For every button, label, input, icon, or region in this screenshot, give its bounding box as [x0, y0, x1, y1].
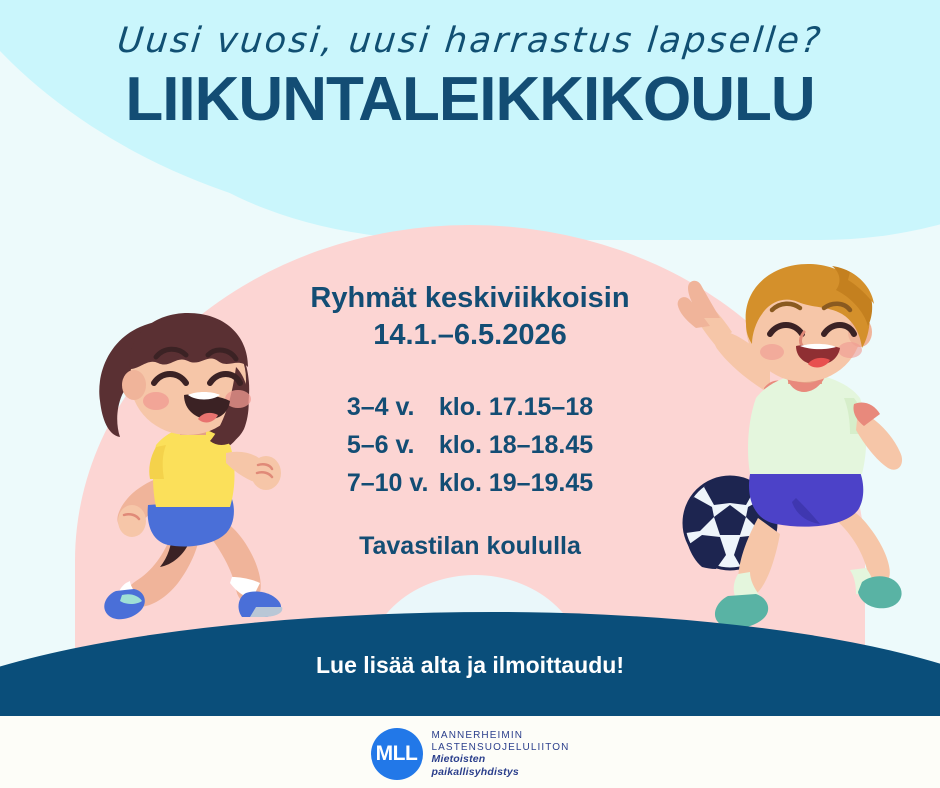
group-age: 3–4 v.	[347, 388, 439, 426]
logo-line-3: Mietoisten	[432, 753, 570, 765]
list-item: 5–6 v.klo. 18–18.45	[347, 426, 593, 464]
group-age: 5–6 v.	[347, 426, 439, 464]
venue-text: Tavastilan koululla	[0, 532, 940, 561]
mll-logo-mark: MLL	[371, 728, 423, 780]
schedule-heading-line2: 14.1.–6.5.2026	[373, 319, 567, 351]
mll-logo: MLL MANNERHEIMIN LASTENSUOJELULIITON Mie…	[0, 728, 940, 780]
logo-line-2: LASTENSUOJELULIITON	[432, 742, 570, 754]
mll-logo-text: MANNERHEIMIN LASTENSUOJELULIITON Mietois…	[432, 730, 570, 778]
header: Uusi vuosi, uusi harrastus lapselle? LII…	[0, 22, 940, 132]
list-item: 7–10 v.klo. 19–19.45	[347, 464, 593, 502]
group-age: 7–10 v.	[347, 464, 439, 502]
logo-line-4: paikallisyhdistys	[432, 766, 570, 778]
page-title: LIIKUNTALEIKKIKOULU	[0, 67, 940, 132]
group-time: klo. 17.15–18	[439, 393, 593, 421]
list-item: 3–4 v.klo. 17.15–18	[347, 388, 593, 426]
group-list: 3–4 v.klo. 17.15–18 5–6 v.klo. 18–18.45 …	[347, 388, 593, 502]
info-block: Ryhmät keskiviikkoisin 14.1.–6.5.2026 3–…	[0, 280, 940, 561]
logo-line-1: MANNERHEIMIN	[432, 730, 570, 742]
schedule-heading: Ryhmät keskiviikkoisin 14.1.–6.5.2026	[0, 280, 940, 354]
cta-text: Lue lisää alta ja ilmoittaudu!	[0, 652, 940, 679]
header-kicker: Uusi vuosi, uusi harrastus lapselle?	[0, 22, 940, 61]
group-time: klo. 19–19.45	[439, 469, 593, 497]
poster-canvas: Uusi vuosi, uusi harrastus lapselle? LII…	[0, 0, 940, 788]
schedule-heading-line1: Ryhmät keskiviikkoisin	[310, 282, 629, 314]
group-time: klo. 18–18.45	[439, 431, 593, 459]
